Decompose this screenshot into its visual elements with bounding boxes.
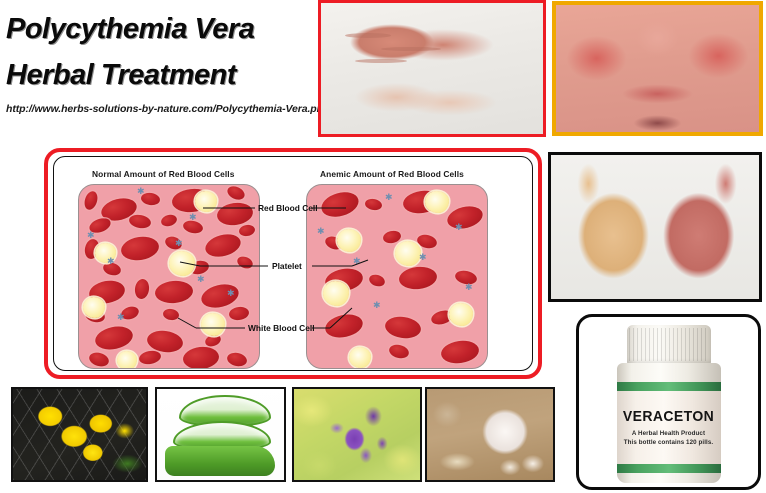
photo-comparison-hands [548,152,762,302]
bottle-stripe-top [617,382,721,391]
panel-title-normal: Normal Amount of Red Blood Cells [92,169,234,179]
legend-label-white-blood-cell: White Blood Cell [248,323,315,333]
photo-herb-garlic-image [427,389,553,480]
site-url-text[interactable]: http://www.herbs-solutions-by-nature.com… [6,103,329,115]
photo-herb-aloe-vera [155,387,286,482]
product-tagline: A Herbal Health Product [632,430,705,437]
bottle-graphic: VERACETON A Herbal Health Product This b… [613,325,725,483]
aloe-leaf-base [165,446,275,476]
photo-comparison-hands-image [551,155,759,299]
photo-herb-purple-flower-image [294,389,420,480]
photo-swollen-arms-image [321,3,543,134]
panel-title-anemic: Anemic Amount of Red Blood Cells [320,169,464,179]
photo-flushed-face [552,1,763,136]
photo-herb-aloe-vera-image [157,389,284,480]
title-line-1: Polycythemia Vera [6,6,326,52]
photo-herb-garlic [425,387,555,482]
bottle-cap [627,325,711,365]
photo-herb-purple-flower [292,387,422,482]
panel-anemic-blood [306,184,488,369]
photo-flushed-face-image [556,5,759,132]
product-contents: This bottle contains 120 pills. [624,439,713,446]
product-brand-name: VERACETON [623,409,714,424]
bottle-label: VERACETON A Herbal Health Product This b… [617,391,721,464]
poster-canvas: Polycythemia Vera Herbal Treatment http:… [0,0,766,493]
bottle-stripe-bottom [617,464,721,473]
legend-label-platelet: Platelet [272,261,302,271]
title-line-2: Herbal Treatment [6,52,326,98]
photo-herb-yellow-flower-image [13,389,146,480]
photo-swollen-arms [318,0,546,137]
photo-herb-yellow-flower [11,387,148,482]
legend-label-red-blood-cell: Red Blood Cell [258,203,318,213]
bottle-body: VERACETON A Herbal Health Product This b… [617,363,721,483]
panel-normal-blood [78,184,260,369]
photo-product-bottle: VERACETON A Herbal Health Product This b… [576,314,761,490]
